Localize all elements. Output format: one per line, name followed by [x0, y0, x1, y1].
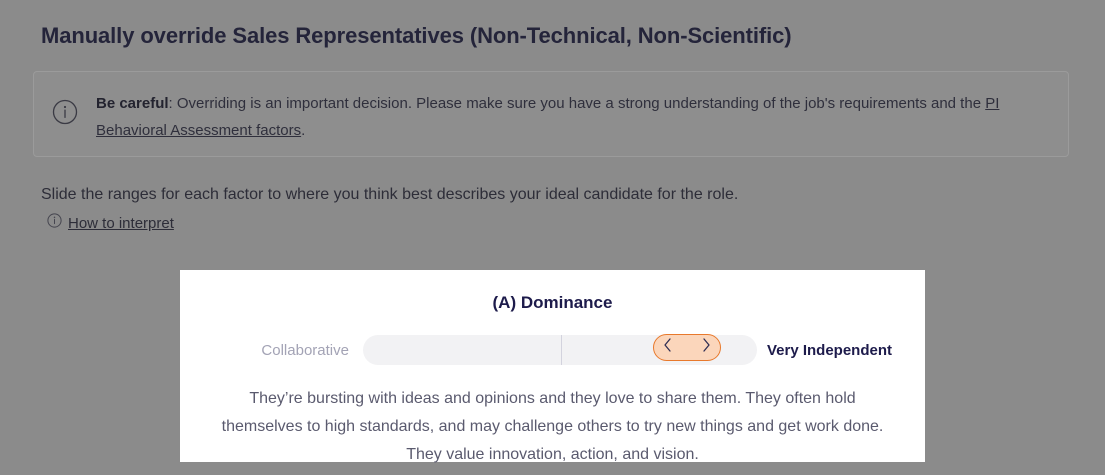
info-circle-icon [47, 213, 62, 233]
alert-body-after: . [301, 122, 305, 139]
instruction-text: Slide the ranges for each factor to wher… [41, 186, 738, 204]
factor-slider-row: Collaborative Very Indepe [180, 335, 925, 365]
factor-title: (A) Dominance [180, 293, 925, 313]
slider-label-right: Very Independent [757, 342, 892, 359]
page-title: Manually override Sales Representatives … [41, 23, 791, 49]
warning-alert-box: Be careful: Overriding is an important d… [33, 71, 1069, 157]
factor-description: They’re bursting with ideas and opinions… [208, 385, 898, 469]
slider-range-handle[interactable] [653, 334, 721, 361]
how-to-interpret-row[interactable]: How to interpret [47, 213, 174, 233]
alert-message: Be careful: Overriding is an important d… [96, 90, 1068, 144]
chevron-right-icon[interactable] [702, 338, 711, 357]
how-to-interpret-link[interactable]: How to interpret [68, 215, 174, 232]
slider-track[interactable] [363, 335, 757, 365]
alert-body-before: : Overriding is an important decision. P… [169, 95, 986, 112]
slider-midpoint-divider [561, 335, 562, 365]
factor-card-dominance: (A) Dominance Collaborative [180, 270, 925, 462]
chevron-left-icon[interactable] [663, 338, 672, 357]
alert-lead: Be careful [96, 95, 169, 112]
slider-label-left: Collaborative [213, 342, 363, 359]
page-root: Manually override Sales Representatives … [0, 0, 1105, 475]
info-circle-icon [34, 90, 96, 125]
